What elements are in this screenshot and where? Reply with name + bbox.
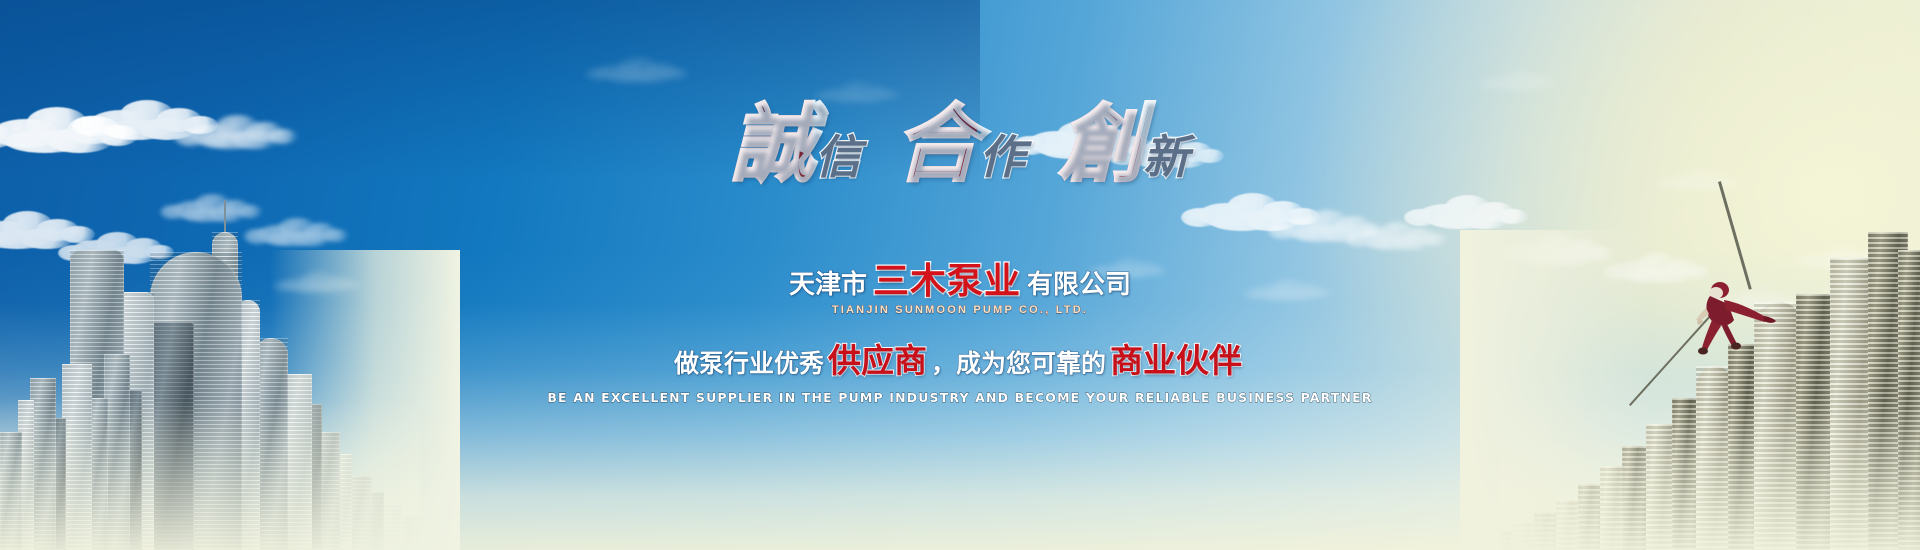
company-brand-name: 三木泵业 [873,261,1021,302]
slogan-english: BE AN EXCELLENT SUPPLIER IN THE PUMP IND… [0,390,1920,405]
slogan-part-1: 做泵行业优秀 [674,349,824,378]
calligraphy-char-chuang: 創 [1059,99,1141,192]
company-city-prefix: 天津市 [789,270,867,300]
calligraphy-char-xin2: 新 [1143,132,1189,183]
company-name-chinese: 天津市三木泵业有限公司 [0,264,1920,300]
slogan-chinese: 做泵行业优秀供应商，成为您可靠的商业伙伴 [0,344,1920,377]
slogan-highlight-supplier: 供应商 [828,341,927,380]
company-legal-suffix: 有限公司 [1027,270,1131,300]
slogan-part-2: ，成为您可靠的 [931,349,1106,378]
calligraphy-char-cheng: 誠 [731,99,813,192]
slogan-highlight-partner: 商业伙伴 [1110,341,1242,380]
company-name-block: 天津市三木泵业有限公司 TIANJIN SUNMOON PUMP CO., LT… [0,264,1920,316]
calligraphy-char-he: 合 [895,99,977,192]
company-name-english: TIANJIN SUNMOON PUMP CO., LTD. [0,305,1920,316]
calligraphy-char-xin: 信 [815,132,861,183]
calligraphy-headline: 誠信合作創新 [0,104,1920,188]
company-hero-banner: 誠信合作創新 天津市三木泵业有限公司 TIANJIN SUNMOON PUMP … [0,0,1920,550]
calligraphy-char-zuo: 作 [979,132,1025,183]
